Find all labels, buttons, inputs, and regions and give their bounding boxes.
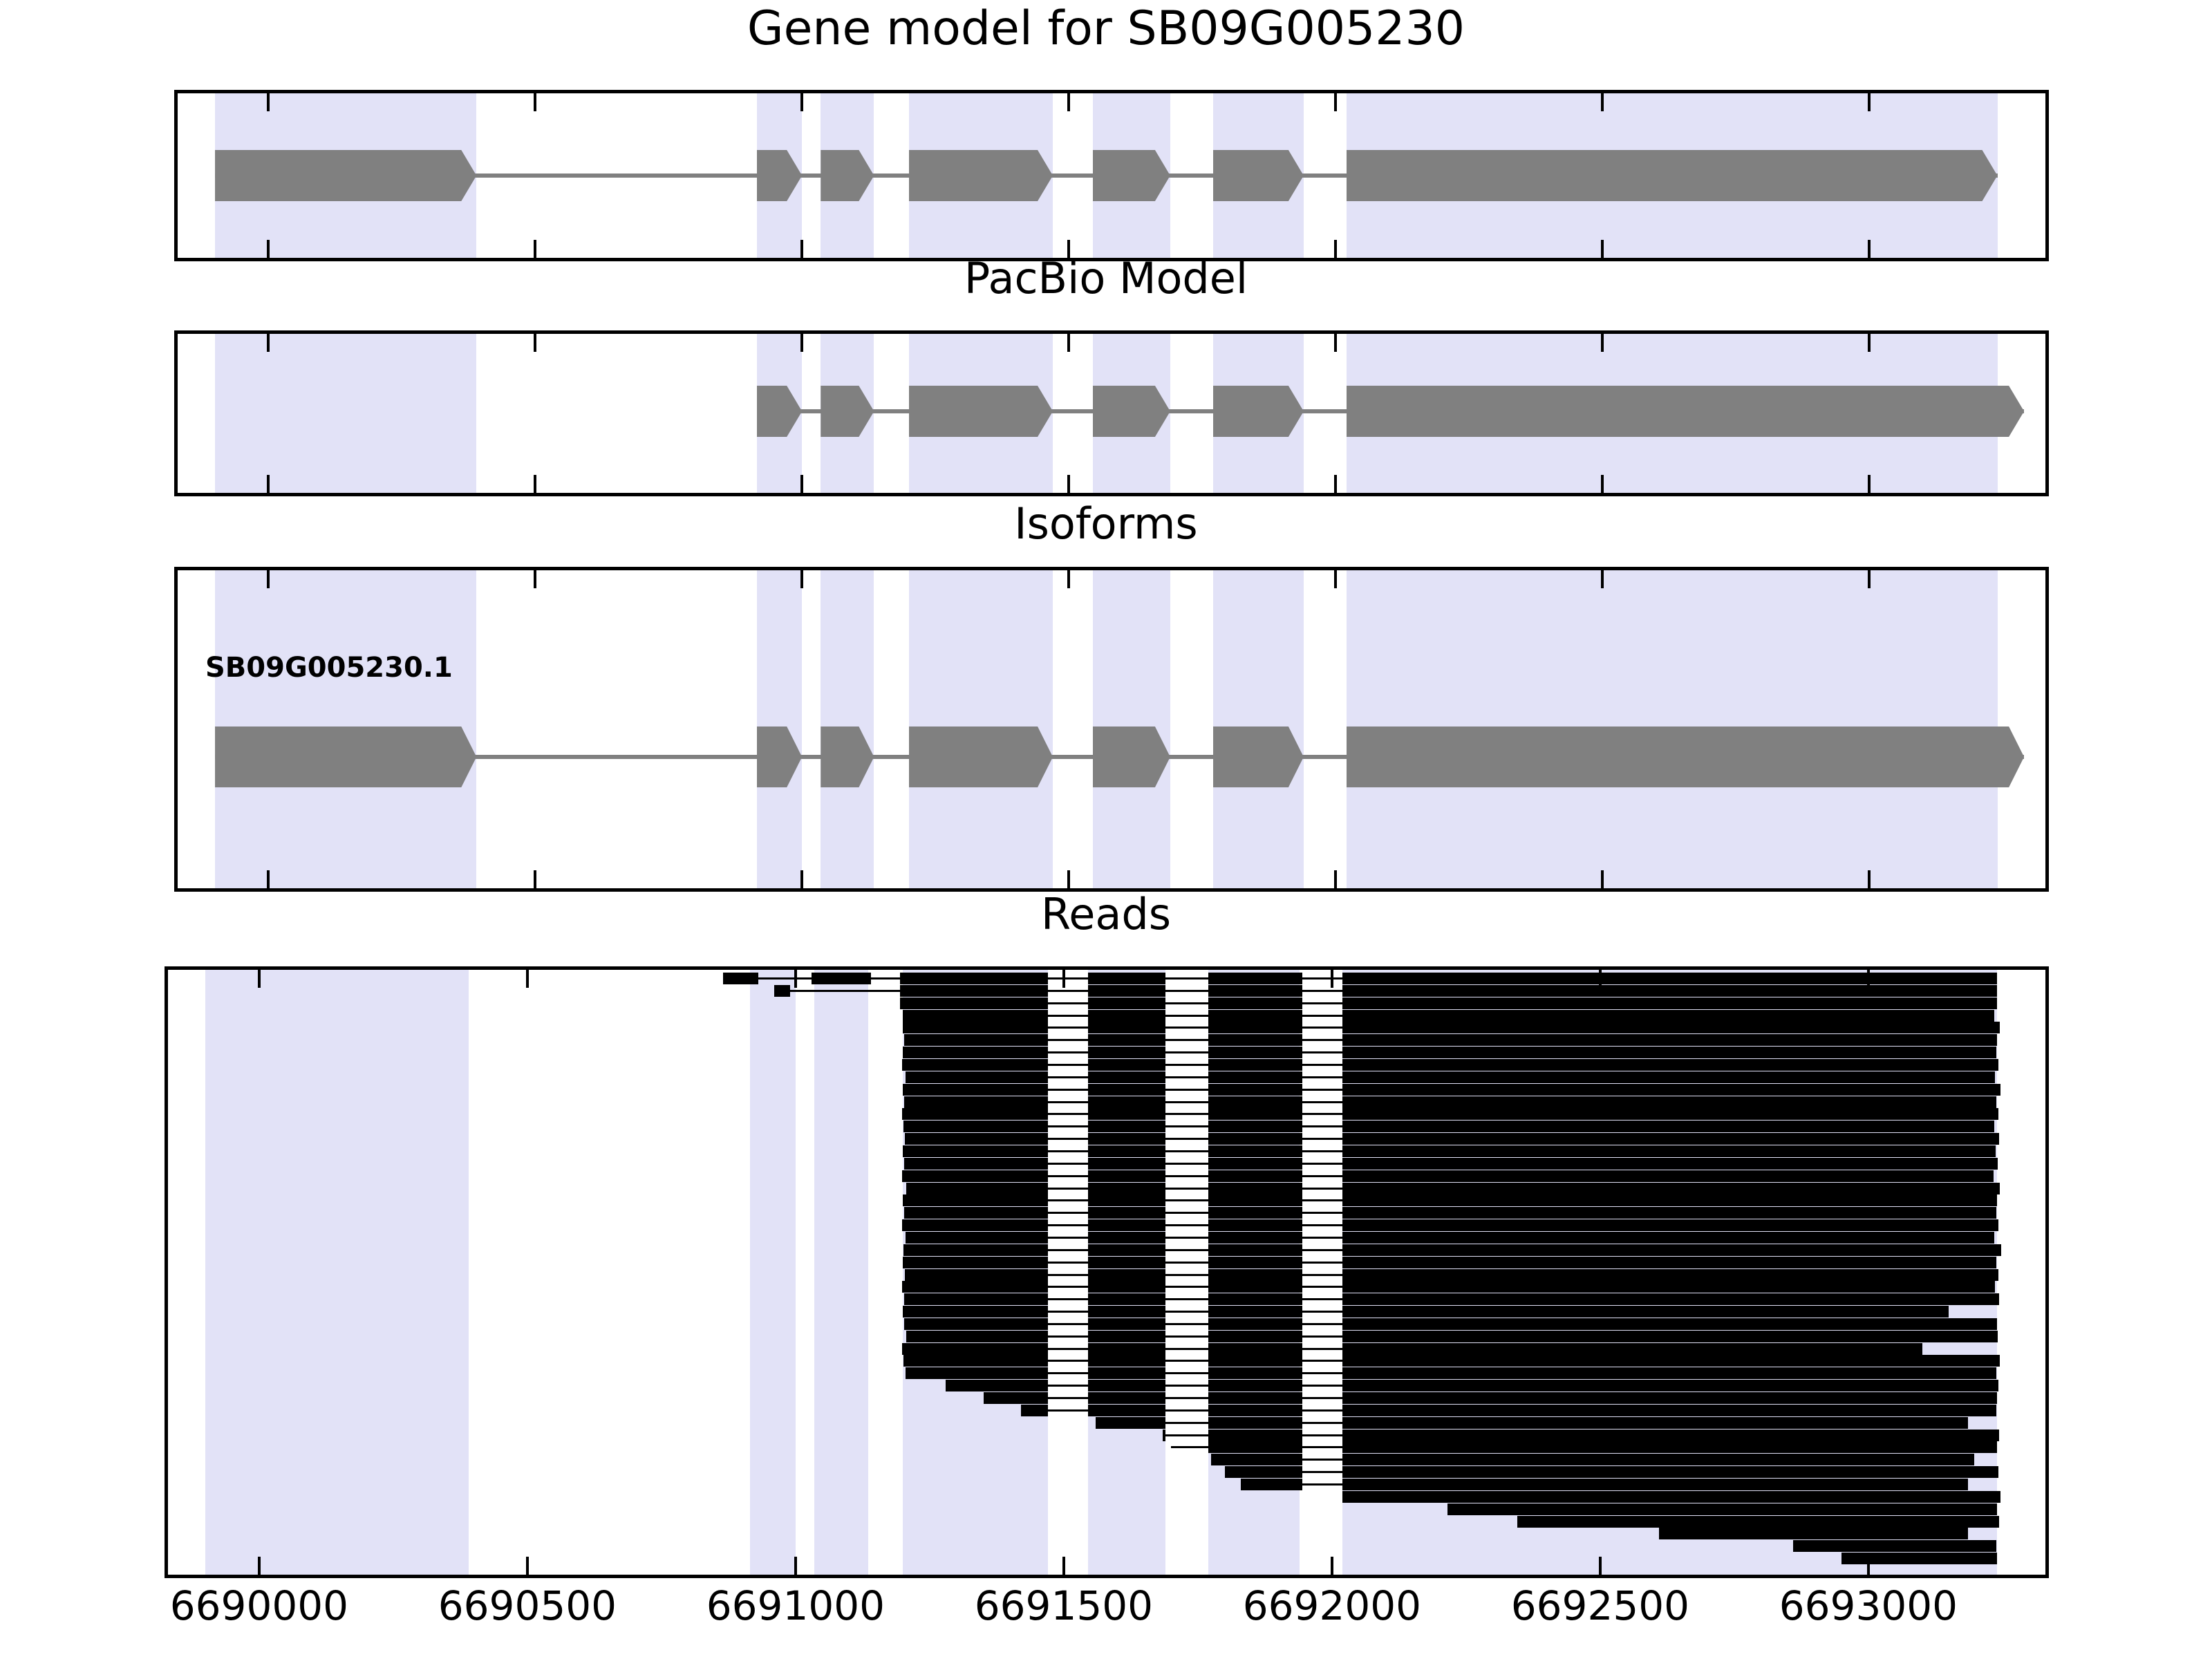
x-tick-mark xyxy=(1334,334,1337,352)
read-row xyxy=(168,1010,2045,1022)
read-block xyxy=(1088,1183,1166,1194)
read-block xyxy=(1241,1479,1302,1490)
read-row xyxy=(168,1170,2045,1182)
read-block xyxy=(906,1232,1048,1244)
read-block xyxy=(1659,1528,1968,1539)
read-block xyxy=(903,1306,1048,1318)
read-block xyxy=(1088,1133,1166,1145)
read-block xyxy=(1342,1343,1922,1355)
read-block xyxy=(900,997,1047,1009)
read-block xyxy=(1208,1207,1302,1219)
read-row xyxy=(168,1553,2045,1564)
read-block xyxy=(1088,1293,1166,1305)
read-row xyxy=(168,1405,2045,1416)
read-block xyxy=(903,1244,1048,1256)
read-block xyxy=(1342,1232,1994,1244)
read-row xyxy=(168,1454,2045,1465)
x-tick-label: 6693000 xyxy=(1779,1584,1958,1629)
read-row xyxy=(168,997,2045,1009)
read-block xyxy=(1208,1084,1302,1096)
x-tick-mark xyxy=(800,93,803,111)
read-block xyxy=(1342,1207,1996,1219)
read-block xyxy=(902,1281,1048,1293)
read-block xyxy=(1211,1454,1302,1465)
read-block xyxy=(904,1318,1047,1330)
read-block xyxy=(1088,1022,1166,1033)
exon-block xyxy=(1347,727,2024,787)
read-block xyxy=(1208,1306,1302,1318)
read-row xyxy=(168,1133,2045,1145)
read-block xyxy=(1342,1405,1996,1416)
read-row xyxy=(168,1367,2045,1379)
read-block xyxy=(903,1145,1048,1157)
read-block xyxy=(900,985,1047,997)
read-block xyxy=(1342,1158,1997,1170)
read-row xyxy=(168,1540,2045,1552)
read-block xyxy=(1208,1096,1302,1108)
read-block xyxy=(1088,1084,1166,1096)
read-block xyxy=(1342,1269,1998,1281)
read-block xyxy=(902,1343,1047,1355)
x-tick-mark xyxy=(1868,870,1871,888)
read-row xyxy=(168,1194,2045,1206)
x-tick-mark xyxy=(800,334,803,352)
x-tick-mark xyxy=(267,475,270,493)
read-row xyxy=(168,1121,2045,1132)
isoforms-plot-area xyxy=(178,570,2045,888)
read-row xyxy=(168,1059,2045,1071)
read-block xyxy=(1208,1022,1302,1033)
read-block xyxy=(1447,1503,1997,1515)
exon-block xyxy=(909,150,1053,201)
x-axis-tick-labels: 6690000669050066910006691500669200066925… xyxy=(0,1584,2212,1651)
read-block xyxy=(1342,997,1997,1009)
read-block xyxy=(1342,1108,1998,1120)
read-block xyxy=(904,1158,1048,1170)
x-tick-mark xyxy=(1601,93,1604,111)
read-block xyxy=(1342,1331,1997,1342)
read-block xyxy=(1088,1343,1166,1355)
read-block xyxy=(1342,1293,1999,1305)
read-block xyxy=(1208,1257,1302,1268)
read-row xyxy=(168,1219,2045,1231)
x-tick-mark xyxy=(534,870,536,888)
read-block xyxy=(1088,1010,1166,1022)
read-block xyxy=(1088,985,1166,997)
read-row xyxy=(168,1355,2045,1367)
read-block xyxy=(1088,1367,1166,1379)
read-row xyxy=(168,1293,2045,1305)
read-row xyxy=(168,1071,2045,1083)
read-block xyxy=(1088,1071,1166,1083)
read-row xyxy=(168,1269,2045,1281)
read-block xyxy=(1088,1392,1166,1404)
read-block xyxy=(903,1022,1048,1033)
x-tick-mark xyxy=(534,93,536,111)
read-row xyxy=(168,1108,2045,1120)
read-block xyxy=(1208,1331,1302,1342)
x-tick-mark xyxy=(1868,334,1871,352)
x-tick-mark xyxy=(800,240,803,258)
read-block xyxy=(774,985,790,997)
x-tick-mark xyxy=(267,93,270,111)
read-block xyxy=(1088,973,1166,984)
read-block xyxy=(1208,1034,1302,1046)
exon-block xyxy=(909,386,1053,437)
exon-block xyxy=(1347,386,2024,437)
read-block xyxy=(1208,1417,1302,1429)
x-tick-label: 6692000 xyxy=(1243,1584,1421,1629)
reads-panel-title: Reads xyxy=(0,893,2212,936)
read-block xyxy=(1208,1219,1302,1231)
read-block xyxy=(903,1194,1048,1206)
read-block xyxy=(1342,1318,1997,1330)
read-block xyxy=(905,1269,1047,1281)
isoform-label: SB09G005230.1 xyxy=(205,652,453,684)
x-tick-mark xyxy=(1601,570,1604,588)
read-block xyxy=(1088,1331,1166,1342)
read-block xyxy=(1208,1281,1302,1293)
read-block xyxy=(946,1380,1047,1391)
read-block xyxy=(1342,1194,1997,1206)
read-block xyxy=(1517,1516,2000,1528)
read-block xyxy=(1208,1183,1302,1194)
x-tick-mark xyxy=(267,570,270,588)
read-block xyxy=(904,1293,1048,1305)
x-tick-mark xyxy=(1067,570,1070,588)
read-block xyxy=(1342,1133,1999,1145)
x-tick-mark xyxy=(267,334,270,352)
exon-block xyxy=(1093,150,1170,201)
read-row xyxy=(168,1380,2045,1391)
read-block xyxy=(1208,1430,1302,1441)
pacbio-plot-area xyxy=(178,334,2045,493)
read-row xyxy=(168,1096,2045,1108)
read-block xyxy=(1208,973,1302,984)
pacbio-axes xyxy=(174,330,2049,496)
x-tick-label: 6691000 xyxy=(706,1584,885,1629)
x-tick-mark xyxy=(534,334,536,352)
exon-shade-band xyxy=(215,334,476,493)
read-row xyxy=(168,1158,2045,1170)
isoforms-axes: SB09G005230.1 xyxy=(174,567,2049,892)
isoforms-panel-title: Isoforms xyxy=(0,503,2212,545)
read-block xyxy=(1088,1158,1166,1170)
read-row xyxy=(168,1503,2045,1515)
exon-block xyxy=(1213,150,1304,201)
read-block xyxy=(902,1108,1047,1120)
x-tick-mark xyxy=(1334,240,1337,258)
read-row xyxy=(168,1244,2045,1256)
read-block xyxy=(1342,1071,1995,1083)
read-block xyxy=(904,1034,1048,1046)
read-block xyxy=(1208,1194,1302,1206)
read-block xyxy=(1841,1553,1997,1564)
read-row xyxy=(168,1306,2045,1318)
read-block xyxy=(1208,1269,1302,1281)
read-block xyxy=(1225,1466,1303,1478)
read-block xyxy=(1088,1034,1166,1046)
read-block xyxy=(1342,1047,1996,1058)
read-block xyxy=(1342,973,1997,984)
read-block xyxy=(1208,1145,1302,1157)
read-block xyxy=(1088,1207,1166,1219)
read-block xyxy=(1793,1540,1996,1552)
read-block xyxy=(1088,1355,1166,1367)
read-row xyxy=(168,973,2045,984)
read-block xyxy=(1342,1380,1998,1391)
read-block xyxy=(1208,1121,1302,1132)
read-block xyxy=(1342,1010,1994,1022)
read-block xyxy=(1208,1405,1302,1416)
read-block xyxy=(904,1096,1047,1108)
read-block xyxy=(1208,1355,1302,1367)
read-block xyxy=(1208,1232,1302,1244)
read-block xyxy=(1342,1183,2000,1194)
exon-block xyxy=(1093,386,1170,437)
read-row xyxy=(168,1430,2045,1441)
read-row xyxy=(168,1207,2045,1219)
read-block xyxy=(1208,1059,1302,1071)
read-block xyxy=(1342,1034,1997,1046)
read-row xyxy=(168,1516,2045,1528)
x-tick-mark xyxy=(267,240,270,258)
x-tick-mark xyxy=(1868,570,1871,588)
read-block xyxy=(1208,1392,1302,1404)
read-block xyxy=(1088,1145,1166,1157)
gene-model-figure: Gene model for SB09G005230 PacBio Model … xyxy=(0,0,2212,1659)
read-block xyxy=(1342,1417,1968,1429)
read-row xyxy=(168,1479,2045,1490)
read-block xyxy=(1208,1441,1302,1453)
read-row xyxy=(168,1331,2045,1342)
x-tick-mark xyxy=(267,870,270,888)
read-block xyxy=(1342,1244,2000,1256)
read-block xyxy=(1208,997,1302,1009)
read-row xyxy=(168,1022,2045,1033)
read-block xyxy=(1088,1170,1166,1182)
read-block xyxy=(1342,1096,1996,1108)
read-block xyxy=(1342,1281,1995,1293)
read-row xyxy=(168,1257,2045,1268)
read-block xyxy=(1208,1071,1302,1083)
read-block xyxy=(903,1010,1048,1022)
x-tick-label: 6690500 xyxy=(438,1584,617,1629)
read-block xyxy=(1208,1158,1302,1170)
read-block xyxy=(812,973,870,984)
read-row xyxy=(168,1281,2045,1293)
read-block xyxy=(1342,1121,1994,1132)
read-row xyxy=(168,1417,2045,1429)
read-block xyxy=(904,1207,1047,1219)
x-tick-mark xyxy=(1334,870,1337,888)
read-block xyxy=(1342,1479,1968,1490)
x-tick-mark xyxy=(1601,870,1604,888)
read-row xyxy=(168,985,2045,997)
read-block xyxy=(1088,1318,1166,1330)
read-block xyxy=(1088,1281,1166,1293)
read-row xyxy=(168,1084,2045,1096)
read-block xyxy=(1342,1219,1998,1231)
read-block xyxy=(1342,1170,1993,1182)
read-block xyxy=(1088,1059,1166,1071)
read-block xyxy=(1342,1306,1949,1318)
gene-model-plot-area xyxy=(178,93,2045,258)
read-block xyxy=(1208,1244,1302,1256)
exon-block xyxy=(1347,150,1998,201)
read-block xyxy=(1088,1380,1166,1391)
read-block xyxy=(723,973,758,984)
read-block xyxy=(1208,1380,1302,1391)
read-block xyxy=(1088,1096,1166,1108)
exon-block xyxy=(1213,386,1304,437)
read-block xyxy=(1342,1355,2000,1367)
read-block xyxy=(1342,1466,1998,1478)
exon-block xyxy=(1213,727,1304,787)
x-tick-label: 6690000 xyxy=(170,1584,348,1629)
read-block xyxy=(1342,1430,1999,1441)
x-tick-mark xyxy=(1868,475,1871,493)
read-block xyxy=(905,1133,1047,1145)
read-block xyxy=(903,1355,1048,1367)
read-block xyxy=(906,1071,1048,1083)
read-block xyxy=(1342,1454,1974,1465)
x-tick-mark xyxy=(800,475,803,493)
read-block xyxy=(1021,1405,1048,1416)
x-tick-mark xyxy=(1067,475,1070,493)
x-tick-mark xyxy=(534,240,536,258)
x-tick-label: 6691500 xyxy=(975,1584,1153,1629)
x-tick-mark xyxy=(1601,334,1604,352)
x-tick-mark xyxy=(534,475,536,493)
read-block xyxy=(1088,1244,1166,1256)
read-block xyxy=(1342,1491,2000,1503)
exon-block xyxy=(215,150,476,201)
x-tick-mark xyxy=(1067,240,1070,258)
read-block xyxy=(900,973,1047,984)
read-block xyxy=(1088,1232,1166,1244)
x-tick-label: 6692500 xyxy=(1511,1584,1689,1629)
read-block xyxy=(906,1367,1048,1379)
read-block xyxy=(1088,1306,1166,1318)
read-row xyxy=(168,1392,2045,1404)
x-tick-mark xyxy=(1601,475,1604,493)
reads-axes xyxy=(165,966,2049,1578)
x-tick-mark xyxy=(1868,93,1871,111)
x-tick-mark xyxy=(1067,870,1070,888)
x-tick-mark xyxy=(1334,570,1337,588)
read-block xyxy=(1342,1257,1996,1268)
read-block xyxy=(1342,1084,2000,1096)
read-block xyxy=(903,1121,1048,1132)
gene-model-axes xyxy=(174,90,2049,261)
exon-block xyxy=(215,727,476,787)
x-tick-mark xyxy=(1601,240,1604,258)
read-block xyxy=(1088,1257,1166,1268)
read-row xyxy=(168,1145,2045,1157)
read-block xyxy=(1342,1059,1998,1071)
read-block xyxy=(1088,1108,1166,1120)
pacbio-panel-title: PacBio Model xyxy=(0,257,2212,300)
read-block xyxy=(1208,985,1302,997)
reads-plot-area xyxy=(168,970,2045,1575)
exon-block xyxy=(909,727,1053,787)
read-row xyxy=(168,1441,2045,1453)
read-block xyxy=(1342,985,1997,997)
read-block xyxy=(1208,1047,1302,1058)
x-tick-mark xyxy=(1334,475,1337,493)
x-tick-mark xyxy=(1334,93,1337,111)
read-block xyxy=(1208,1293,1302,1305)
read-block xyxy=(1342,1022,2000,1033)
read-row xyxy=(168,1318,2045,1330)
read-block xyxy=(902,1170,1048,1182)
read-row xyxy=(168,1047,2045,1058)
read-block xyxy=(1088,1219,1166,1231)
read-block xyxy=(906,1331,1048,1342)
read-block xyxy=(1088,1047,1166,1058)
x-tick-mark xyxy=(1868,240,1871,258)
read-row xyxy=(168,1183,2045,1194)
read-block xyxy=(984,1392,1048,1404)
exon-block xyxy=(1093,727,1170,787)
read-row xyxy=(168,1466,2045,1478)
read-block xyxy=(1208,1367,1302,1379)
read-row xyxy=(168,1491,2045,1503)
read-row xyxy=(168,1232,2045,1244)
read-block xyxy=(1342,1441,1997,1453)
read-block xyxy=(903,1257,1048,1268)
x-tick-mark xyxy=(800,570,803,588)
read-row xyxy=(168,1343,2045,1355)
read-block xyxy=(1088,1194,1166,1206)
read-row xyxy=(168,1528,2045,1539)
read-block xyxy=(1088,1121,1166,1132)
x-tick-mark xyxy=(1067,93,1070,111)
read-block xyxy=(1342,1367,1996,1379)
read-block xyxy=(902,1219,1047,1231)
x-tick-mark xyxy=(800,870,803,888)
read-block xyxy=(906,1183,1048,1194)
read-block xyxy=(1208,1108,1302,1120)
read-block xyxy=(903,1084,1048,1096)
read-row xyxy=(168,1034,2045,1046)
read-block xyxy=(1208,1170,1302,1182)
read-block xyxy=(1096,1417,1165,1429)
read-block xyxy=(903,1047,1048,1058)
read-block xyxy=(1088,997,1166,1009)
read-block xyxy=(1342,1145,1995,1157)
read-block xyxy=(1208,1343,1302,1355)
read-block xyxy=(1208,1133,1302,1145)
read-block xyxy=(1208,1010,1302,1022)
x-tick-mark xyxy=(1067,334,1070,352)
read-block xyxy=(1163,1430,1165,1441)
read-block xyxy=(1208,1318,1302,1330)
read-block xyxy=(902,1059,1048,1071)
read-block xyxy=(1342,1392,1997,1404)
x-tick-mark xyxy=(534,570,536,588)
read-block xyxy=(1088,1269,1166,1281)
page-title: Gene model for SB09G005230 xyxy=(0,6,2212,53)
read-block xyxy=(1088,1405,1166,1416)
